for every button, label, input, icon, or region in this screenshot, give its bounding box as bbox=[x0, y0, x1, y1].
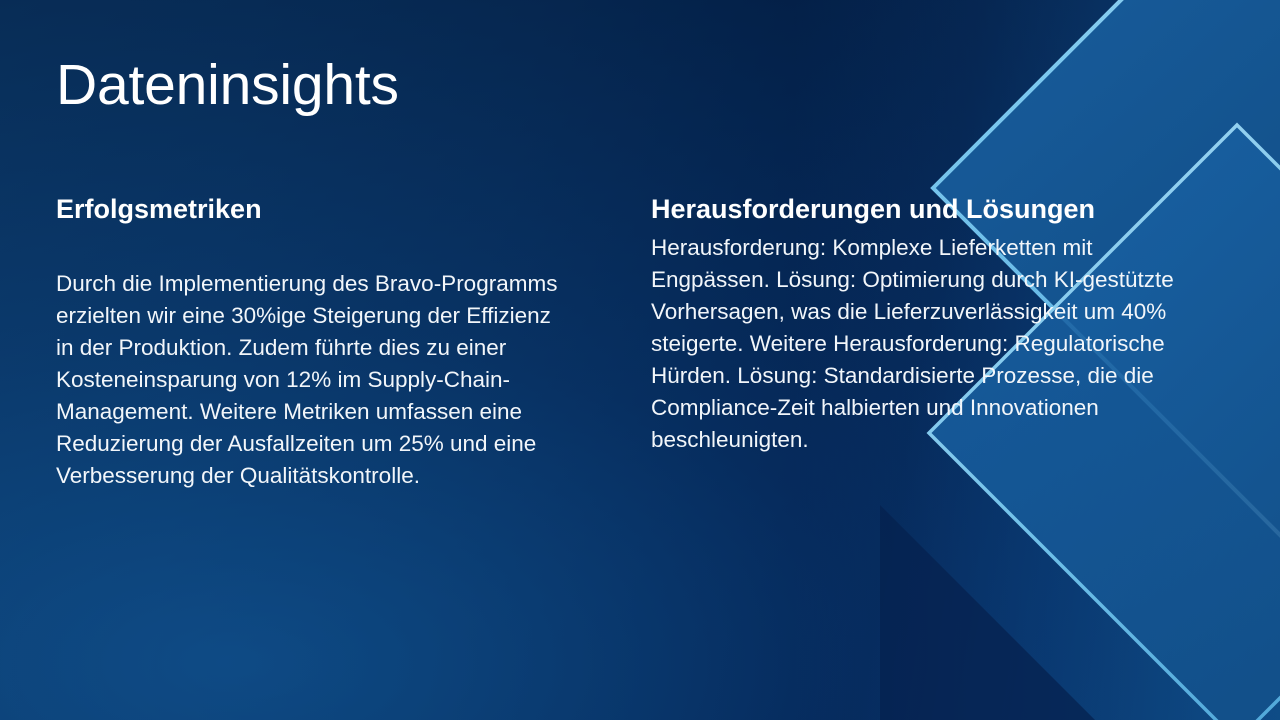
page-title: Dateninsights bbox=[56, 54, 399, 118]
column-heading-erfolgsmetriken: Erfolgsmetriken bbox=[56, 188, 564, 232]
content-column-right: Herausforderungen und Lösungen Herausfor… bbox=[651, 188, 1181, 456]
content-column-left: Erfolgsmetriken Durch die Implementierun… bbox=[56, 188, 564, 492]
column-heading-herausforderungen: Herausforderungen und Lösungen bbox=[651, 188, 1181, 232]
presentation-slide: Dateninsights Erfolgsmetriken Durch die … bbox=[0, 0, 1280, 720]
column-body-herausforderungen: Herausforderung: Komplexe Lieferketten m… bbox=[651, 232, 1181, 456]
column-body-erfolgsmetriken: Durch die Implementierung des Bravo-Prog… bbox=[56, 268, 564, 492]
